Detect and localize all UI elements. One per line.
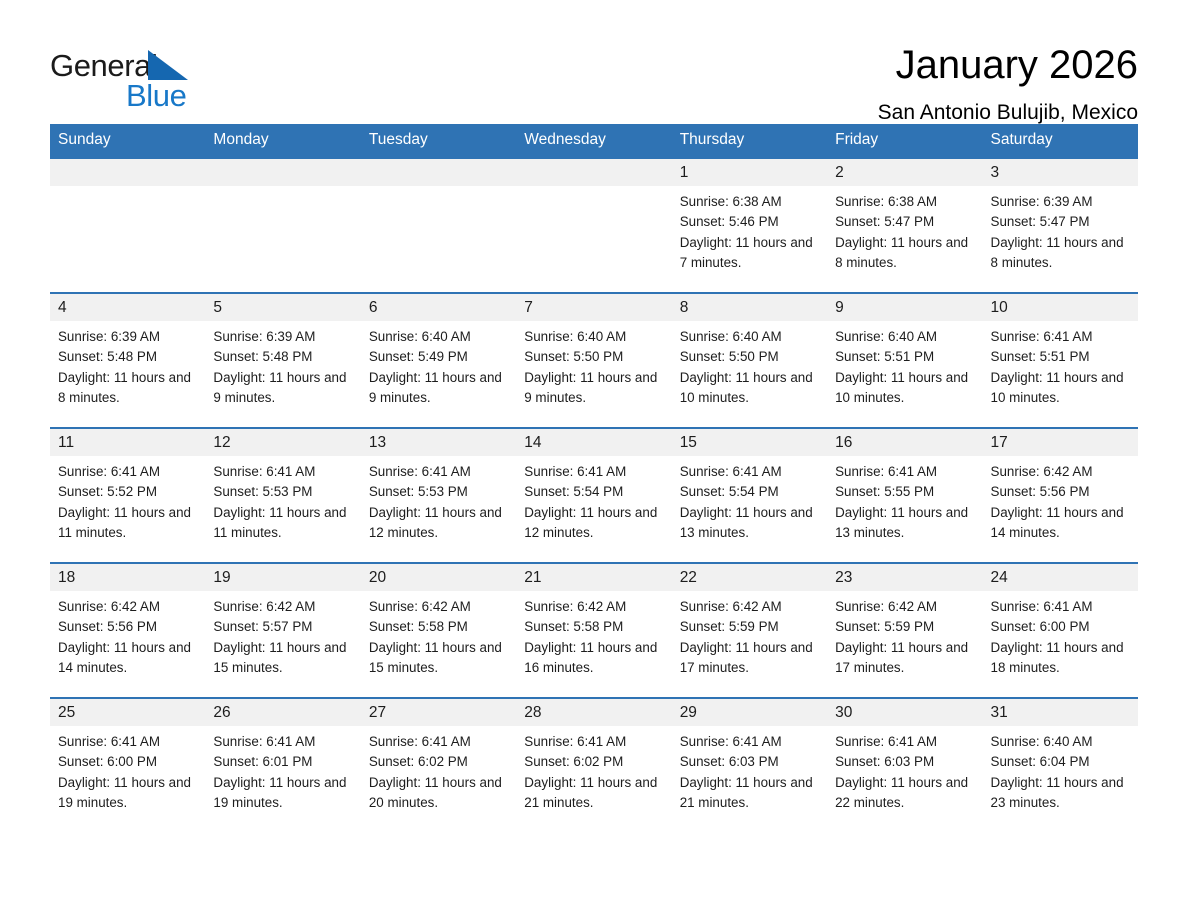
day-cell[interactable]: 24Sunrise: 6:41 AM Sunset: 6:00 PM Dayli… [983,563,1138,698]
weekday-header-monday: Monday [205,124,360,158]
day-cell[interactable]: 1Sunrise: 6:38 AM Sunset: 5:46 PM Daylig… [672,158,827,293]
day-number: 22 [672,564,827,591]
day-details: Sunrise: 6:41 AM Sunset: 5:53 PM Dayligh… [205,456,360,543]
day-number: 2 [827,159,982,186]
day-details: Sunrise: 6:38 AM Sunset: 5:46 PM Dayligh… [672,186,827,273]
day-cell[interactable]: 11Sunrise: 6:41 AM Sunset: 5:52 PM Dayli… [50,428,205,563]
weekday-header-tuesday: Tuesday [361,124,516,158]
day-number: 26 [205,699,360,726]
page-header: General Blue January 2026 San Antonio Bu… [50,0,1138,110]
day-number [205,159,360,186]
day-cell[interactable]: 20Sunrise: 6:42 AM Sunset: 5:58 PM Dayli… [361,563,516,698]
day-number: 30 [827,699,982,726]
day-details: Sunrise: 6:42 AM Sunset: 5:59 PM Dayligh… [827,591,982,678]
day-number: 21 [516,564,671,591]
day-cell[interactable]: 15Sunrise: 6:41 AM Sunset: 5:54 PM Dayli… [672,428,827,563]
day-number: 23 [827,564,982,591]
day-details: Sunrise: 6:41 AM Sunset: 5:53 PM Dayligh… [361,456,516,543]
weekday-header-thursday: Thursday [672,124,827,158]
day-cell[interactable]: 22Sunrise: 6:42 AM Sunset: 5:59 PM Dayli… [672,563,827,698]
logo-text-general: General [50,50,158,81]
week-row: 25Sunrise: 6:41 AM Sunset: 6:00 PM Dayli… [50,698,1138,818]
day-number: 17 [983,429,1138,456]
day-details: Sunrise: 6:41 AM Sunset: 5:54 PM Dayligh… [672,456,827,543]
general-blue-logo[interactable]: General Blue [50,42,210,114]
day-number: 8 [672,294,827,321]
day-number: 31 [983,699,1138,726]
day-cell[interactable]: 8Sunrise: 6:40 AM Sunset: 5:50 PM Daylig… [672,293,827,428]
day-details: Sunrise: 6:40 AM Sunset: 5:51 PM Dayligh… [827,321,982,408]
day-details: Sunrise: 6:39 AM Sunset: 5:48 PM Dayligh… [50,321,205,408]
day-number [361,159,516,186]
day-details: Sunrise: 6:40 AM Sunset: 5:50 PM Dayligh… [672,321,827,408]
day-details [205,186,360,192]
day-number: 25 [50,699,205,726]
day-number: 4 [50,294,205,321]
day-cell[interactable]: 27Sunrise: 6:41 AM Sunset: 6:02 PM Dayli… [361,698,516,818]
day-cell[interactable]: 14Sunrise: 6:41 AM Sunset: 5:54 PM Dayli… [516,428,671,563]
day-cell[interactable]: 19Sunrise: 6:42 AM Sunset: 5:57 PM Dayli… [205,563,360,698]
day-cell[interactable]: 28Sunrise: 6:41 AM Sunset: 6:02 PM Dayli… [516,698,671,818]
location-subtitle: San Antonio Bulujib, Mexico [878,101,1138,124]
weekday-header-wednesday: Wednesday [516,124,671,158]
day-number: 14 [516,429,671,456]
day-details: Sunrise: 6:40 AM Sunset: 6:04 PM Dayligh… [983,726,1138,813]
day-number: 11 [50,429,205,456]
day-cell[interactable]: 9Sunrise: 6:40 AM Sunset: 5:51 PM Daylig… [827,293,982,428]
weekday-header-friday: Friday [827,124,982,158]
day-cell[interactable]: 31Sunrise: 6:40 AM Sunset: 6:04 PM Dayli… [983,698,1138,818]
day-details: Sunrise: 6:42 AM Sunset: 5:56 PM Dayligh… [50,591,205,678]
day-number: 15 [672,429,827,456]
day-number: 6 [361,294,516,321]
day-details: Sunrise: 6:41 AM Sunset: 6:02 PM Dayligh… [516,726,671,813]
week-row: 11Sunrise: 6:41 AM Sunset: 5:52 PM Dayli… [50,428,1138,563]
day-details [50,186,205,192]
day-details: Sunrise: 6:41 AM Sunset: 6:01 PM Dayligh… [205,726,360,813]
day-details: Sunrise: 6:41 AM Sunset: 5:54 PM Dayligh… [516,456,671,543]
day-number: 28 [516,699,671,726]
weekday-header-row: Sunday Monday Tuesday Wednesday Thursday… [50,124,1138,158]
day-number: 29 [672,699,827,726]
day-details: Sunrise: 6:41 AM Sunset: 5:51 PM Dayligh… [983,321,1138,408]
day-cell[interactable]: 4Sunrise: 6:39 AM Sunset: 5:48 PM Daylig… [50,293,205,428]
day-number: 9 [827,294,982,321]
day-number [516,159,671,186]
day-cell[interactable]: 2Sunrise: 6:38 AM Sunset: 5:47 PM Daylig… [827,158,982,293]
day-number: 1 [672,159,827,186]
calendar-body: 1Sunrise: 6:38 AM Sunset: 5:46 PM Daylig… [50,158,1138,818]
day-number: 10 [983,294,1138,321]
day-cell[interactable]: 29Sunrise: 6:41 AM Sunset: 6:03 PM Dayli… [672,698,827,818]
day-cell[interactable]: 12Sunrise: 6:41 AM Sunset: 5:53 PM Dayli… [205,428,360,563]
day-cell[interactable]: 5Sunrise: 6:39 AM Sunset: 5:48 PM Daylig… [205,293,360,428]
day-number: 7 [516,294,671,321]
day-number: 20 [361,564,516,591]
week-row: 1Sunrise: 6:38 AM Sunset: 5:46 PM Daylig… [50,158,1138,293]
day-number: 16 [827,429,982,456]
day-cell[interactable]: 13Sunrise: 6:41 AM Sunset: 5:53 PM Dayli… [361,428,516,563]
day-number: 5 [205,294,360,321]
day-number: 3 [983,159,1138,186]
day-number: 13 [361,429,516,456]
day-cell[interactable]: 10Sunrise: 6:41 AM Sunset: 5:51 PM Dayli… [983,293,1138,428]
day-details: Sunrise: 6:39 AM Sunset: 5:48 PM Dayligh… [205,321,360,408]
day-details: Sunrise: 6:41 AM Sunset: 5:52 PM Dayligh… [50,456,205,543]
day-details: Sunrise: 6:42 AM Sunset: 5:57 PM Dayligh… [205,591,360,678]
day-cell[interactable]: 23Sunrise: 6:42 AM Sunset: 5:59 PM Dayli… [827,563,982,698]
day-cell[interactable]: 30Sunrise: 6:41 AM Sunset: 6:03 PM Dayli… [827,698,982,818]
day-cell[interactable] [361,158,516,293]
logo-text-blue: Blue [126,80,186,111]
day-cell[interactable]: 17Sunrise: 6:42 AM Sunset: 5:56 PM Dayli… [983,428,1138,563]
day-number [50,159,205,186]
weekday-header-saturday: Saturday [983,124,1138,158]
day-details: Sunrise: 6:41 AM Sunset: 6:00 PM Dayligh… [50,726,205,813]
day-details: Sunrise: 6:41 AM Sunset: 6:00 PM Dayligh… [983,591,1138,678]
day-details: Sunrise: 6:41 AM Sunset: 5:55 PM Dayligh… [827,456,982,543]
day-cell[interactable]: 6Sunrise: 6:40 AM Sunset: 5:49 PM Daylig… [361,293,516,428]
day-details: Sunrise: 6:42 AM Sunset: 5:56 PM Dayligh… [983,456,1138,543]
week-row: 18Sunrise: 6:42 AM Sunset: 5:56 PM Dayli… [50,563,1138,698]
day-details: Sunrise: 6:41 AM Sunset: 6:03 PM Dayligh… [672,726,827,813]
day-number: 19 [205,564,360,591]
day-details: Sunrise: 6:41 AM Sunset: 6:03 PM Dayligh… [827,726,982,813]
week-row: 4Sunrise: 6:39 AM Sunset: 5:48 PM Daylig… [50,293,1138,428]
day-cell[interactable]: 16Sunrise: 6:41 AM Sunset: 5:55 PM Dayli… [827,428,982,563]
calendar-page: General Blue January 2026 San Antonio Bu… [0,0,1188,918]
day-number: 12 [205,429,360,456]
month-calendar-table: Sunday Monday Tuesday Wednesday Thursday… [50,124,1138,818]
day-details: Sunrise: 6:40 AM Sunset: 5:50 PM Dayligh… [516,321,671,408]
day-details: Sunrise: 6:41 AM Sunset: 6:02 PM Dayligh… [361,726,516,813]
day-number: 27 [361,699,516,726]
day-details: Sunrise: 6:42 AM Sunset: 5:59 PM Dayligh… [672,591,827,678]
day-details: Sunrise: 6:42 AM Sunset: 5:58 PM Dayligh… [361,591,516,678]
day-cell[interactable]: 25Sunrise: 6:41 AM Sunset: 6:00 PM Dayli… [50,698,205,818]
day-number: 24 [983,564,1138,591]
title-block: January 2026 San Antonio Bulujib, Mexico [878,42,1138,124]
day-details: Sunrise: 6:40 AM Sunset: 5:49 PM Dayligh… [361,321,516,408]
day-details [516,186,671,192]
day-details: Sunrise: 6:39 AM Sunset: 5:47 PM Dayligh… [983,186,1138,273]
day-cell[interactable]: 18Sunrise: 6:42 AM Sunset: 5:56 PM Dayli… [50,563,205,698]
page-title: January 2026 [878,44,1138,86]
day-cell[interactable]: 7Sunrise: 6:40 AM Sunset: 5:50 PM Daylig… [516,293,671,428]
day-cell[interactable] [516,158,671,293]
weekday-header-sunday: Sunday [50,124,205,158]
day-cell[interactable]: 26Sunrise: 6:41 AM Sunset: 6:01 PM Dayli… [205,698,360,818]
day-details: Sunrise: 6:38 AM Sunset: 5:47 PM Dayligh… [827,186,982,273]
day-details [361,186,516,192]
day-cell[interactable] [50,158,205,293]
day-cell[interactable]: 21Sunrise: 6:42 AM Sunset: 5:58 PM Dayli… [516,563,671,698]
day-cell[interactable] [205,158,360,293]
day-number: 18 [50,564,205,591]
day-cell[interactable]: 3Sunrise: 6:39 AM Sunset: 5:47 PM Daylig… [983,158,1138,293]
logo-triangle-icon [148,50,188,80]
day-details: Sunrise: 6:42 AM Sunset: 5:58 PM Dayligh… [516,591,671,678]
